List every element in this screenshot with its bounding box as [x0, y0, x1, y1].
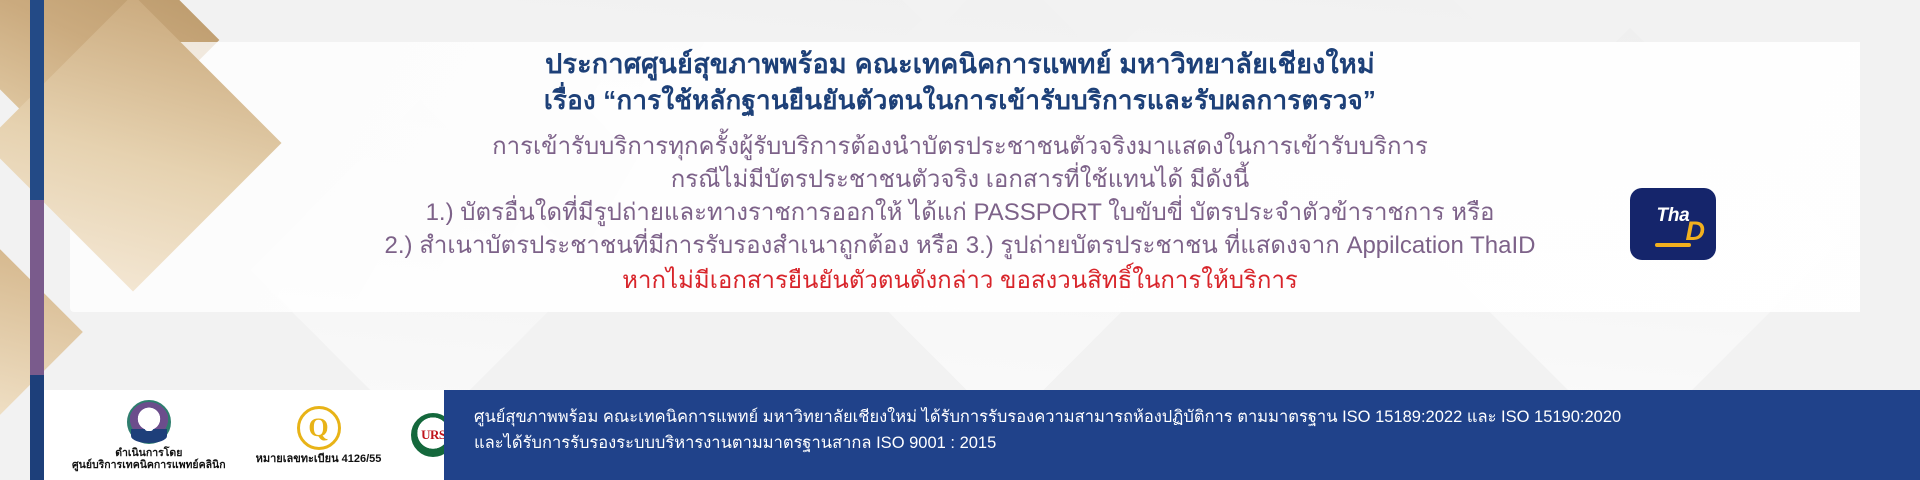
thaid-logo-letter-d: D [1686, 218, 1706, 245]
urs-glyph: URS [421, 427, 446, 443]
footer-accreditation-bar: ศูนย์สุขภาพพร้อม คณะเทคนิคการแพทย์ มหาวิ… [444, 390, 1920, 480]
logo-cell-cmu-clinic: ดำเนินการโดย ศูนย์บริการเทคนิคการแพทย์คล… [72, 400, 226, 471]
announcement-warning-line: หากไม่มีเอกสารยืนยันตัวตนดังกล่าว ขอสงวน… [0, 264, 1920, 298]
footer-accreditation-line-2: และได้รับการรับรองระบบบริหารงานตามมาตรฐา… [474, 430, 1920, 456]
announcement-body-line-1: การเข้ารับบริการทุกครั้งผู้รับบริการต้อง… [0, 130, 1920, 163]
logo-cell-dmsc: Q หมายเลขทะเบียน 4126/55 [256, 406, 382, 465]
thaid-app-logo-icon: Tha D [1630, 188, 1716, 260]
logo-caption-cmu-line-2: ศูนย์บริการเทคนิคการแพทย์คลินิก [72, 459, 226, 471]
footer-logos: ดำเนินการโดย ศูนย์บริการเทคนิคการแพทย์คล… [72, 400, 455, 471]
announcement-title-line-1: ประกาศศูนย์สุขภาพพร้อม คณะเทคนิคการแพทย์… [0, 46, 1920, 82]
footer-logo-strip: ดำเนินการโดย ศูนย์บริการเทคนิคการแพทย์คล… [44, 390, 444, 480]
announcement-banner: ประกาศศูนย์สุขภาพพร้อม คณะเทคนิคการแพทย์… [0, 0, 1920, 480]
logo-caption-dmsc: หมายเลขทะเบียน 4126/55 [256, 453, 382, 465]
announcement-content: ประกาศศูนย์สุขภาพพร้อม คณะเทคนิคการแพทย์… [0, 46, 1920, 298]
logo-caption-cmu-clinic: ดำเนินการโดย ศูนย์บริการเทคนิคการแพทย์คล… [72, 447, 226, 471]
cmu-clinic-seal-icon [127, 400, 171, 444]
logo-caption-cmu-line-1: ดำเนินการโดย [72, 447, 226, 459]
dmsc-quality-assurance-seal-icon: Q [297, 406, 341, 450]
footer-accreditation-line-1: ศูนย์สุขภาพพร้อม คณะเทคนิคการแพทย์ มหาวิ… [474, 404, 1920, 430]
thaid-logo-inner: Tha D [1630, 188, 1716, 260]
thaid-logo-underline [1655, 243, 1691, 247]
announcement-title-line-2: เรื่อง “การใช้หลักฐานยืนยันตัวตนในการเข้… [0, 82, 1920, 118]
footer: ดำเนินการโดย ศูนย์บริการเทคนิคการแพทย์คล… [0, 390, 1920, 480]
dmsc-q-glyph: Q [308, 415, 328, 441]
